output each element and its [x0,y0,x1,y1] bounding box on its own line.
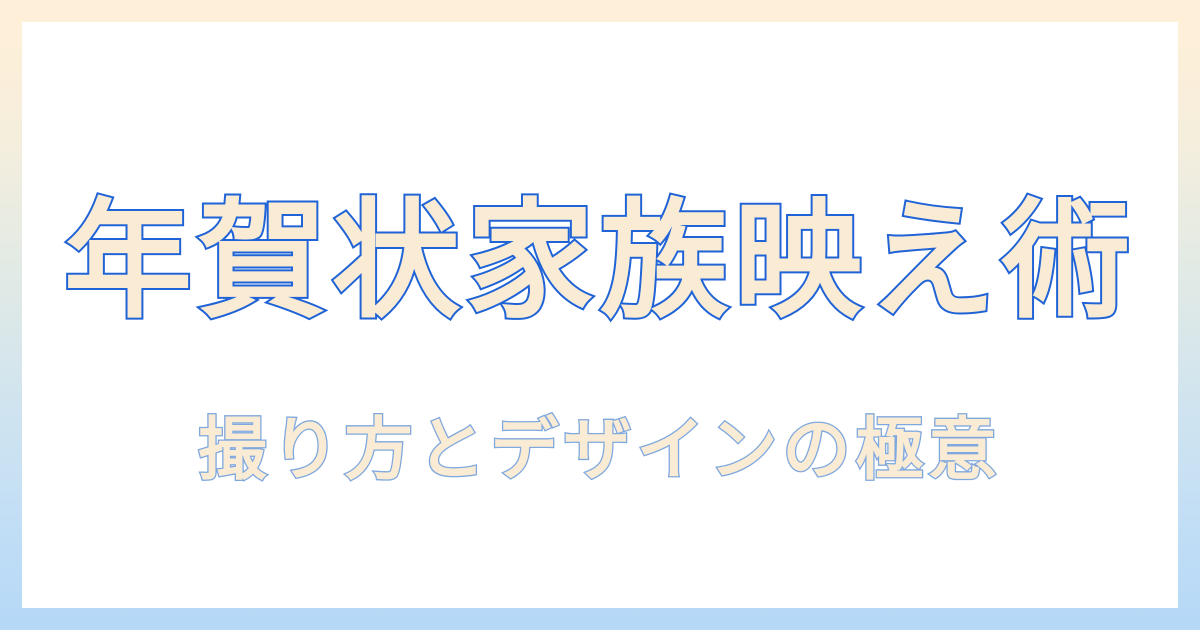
title-block: 年賀状家族映え術 撮り方とデザインの極意 [22,22,1178,608]
page-title: 年賀状家族映え術 [64,190,1136,333]
white-content-card: 年賀状家族映え術 撮り方とデザインの極意 [22,22,1178,608]
banner-canvas: 年賀状家族映え術 撮り方とデザインの極意 [0,0,1200,630]
page-subtitle: 撮り方とデザインの極意 [198,412,1001,490]
